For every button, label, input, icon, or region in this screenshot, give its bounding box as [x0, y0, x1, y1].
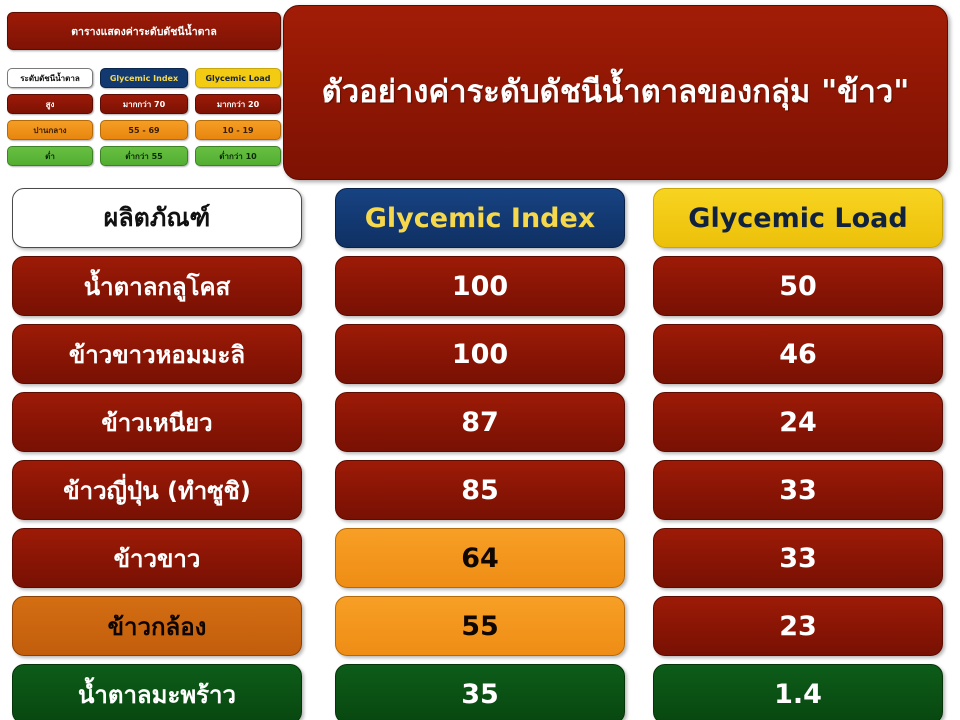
legend-level-medium: ปานกลาง [7, 120, 93, 140]
main-title-banner: ตัวอย่างค่าระดับดัชนีน้ำตาลของกลุ่ม "ข้า… [283, 5, 948, 180]
product-name: ข้าวเหนียว [12, 392, 302, 452]
product-name: น้ำตาลกลูโคส [12, 256, 302, 316]
header-glycemic-load: Glycemic Load [653, 188, 943, 248]
table-header-row: ผลิตภัณฑ์ Glycemic Index Glycemic Load [0, 188, 960, 256]
table-row: ข้าวกล้อง 55 23 [0, 596, 960, 664]
legend-level-low: ต่ำ [7, 146, 93, 166]
legend-title: ตารางแสดงค่าระดับดัชนีน้ำตาล [7, 12, 281, 50]
legend-gl-high: มากกว่า 20 [195, 94, 281, 114]
gl-value: 50 [653, 256, 943, 316]
gi-value: 64 [335, 528, 625, 588]
table-row: ข้าวขาว 64 33 [0, 528, 960, 596]
gl-value: 46 [653, 324, 943, 384]
legend-row: ปานกลาง 55 - 69 10 - 19 [7, 120, 281, 140]
gi-value: 87 [335, 392, 625, 452]
gl-value: 1.4 [653, 664, 943, 720]
header-product: ผลิตภัณฑ์ [12, 188, 302, 248]
slide-canvas: ตารางแสดงค่าระดับดัชนีน้ำตาล ระดับดัชนีน… [0, 0, 960, 720]
gi-value: 100 [335, 324, 625, 384]
table-row: น้ำตาลมะพร้าว 35 1.4 [0, 664, 960, 720]
legend-gl-low: ต่ำกว่า 10 [195, 146, 281, 166]
legend-gi-medium: 55 - 69 [100, 120, 188, 140]
gi-value: 85 [335, 460, 625, 520]
gl-value: 23 [653, 596, 943, 656]
legend-level-high: สูง [7, 94, 93, 114]
legend-gi-high: มากกว่า 70 [100, 94, 188, 114]
legend-grid: ระดับดัชนีน้ำตาล Glycemic Index Glycemic… [7, 68, 281, 172]
legend-row: สูง มากกว่า 70 มากกว่า 20 [7, 94, 281, 114]
table-row: น้ำตาลกลูโคส 100 50 [0, 256, 960, 324]
product-name: น้ำตาลมะพร้าว [12, 664, 302, 720]
legend-header-level: ระดับดัชนีน้ำตาล [7, 68, 93, 88]
product-name: ข้าวญี่ปุ่น (ทำซูชิ) [12, 460, 302, 520]
gi-value: 100 [335, 256, 625, 316]
page-title: ตัวอย่างค่าระดับดัชนีน้ำตาลของกลุ่ม "ข้า… [308, 73, 924, 112]
product-name: ข้าวกล้อง [12, 596, 302, 656]
product-name: ข้าวขาว [12, 528, 302, 588]
legend-row: ต่ำ ต่ำกว่า 55 ต่ำกว่า 10 [7, 146, 281, 166]
glycemic-table: ผลิตภัณฑ์ Glycemic Index Glycemic Load น… [0, 188, 960, 720]
legend-panel: ตารางแสดงค่าระดับดัชนีน้ำตาล ระดับดัชนีน… [0, 0, 288, 182]
gi-value: 55 [335, 596, 625, 656]
legend-header-row: ระดับดัชนีน้ำตาล Glycemic Index Glycemic… [7, 68, 281, 88]
gi-value: 35 [335, 664, 625, 720]
header-glycemic-index: Glycemic Index [335, 188, 625, 248]
gl-value: 24 [653, 392, 943, 452]
gl-value: 33 [653, 460, 943, 520]
legend-header-gl: Glycemic Load [195, 68, 281, 88]
table-row: ข้าวเหนียว 87 24 [0, 392, 960, 460]
legend-header-gi: Glycemic Index [100, 68, 188, 88]
table-row: ข้าวญี่ปุ่น (ทำซูชิ) 85 33 [0, 460, 960, 528]
legend-gi-low: ต่ำกว่า 55 [100, 146, 188, 166]
product-name: ข้าวขาวหอมมะลิ [12, 324, 302, 384]
legend-gl-medium: 10 - 19 [195, 120, 281, 140]
table-row: ข้าวขาวหอมมะลิ 100 46 [0, 324, 960, 392]
gl-value: 33 [653, 528, 943, 588]
